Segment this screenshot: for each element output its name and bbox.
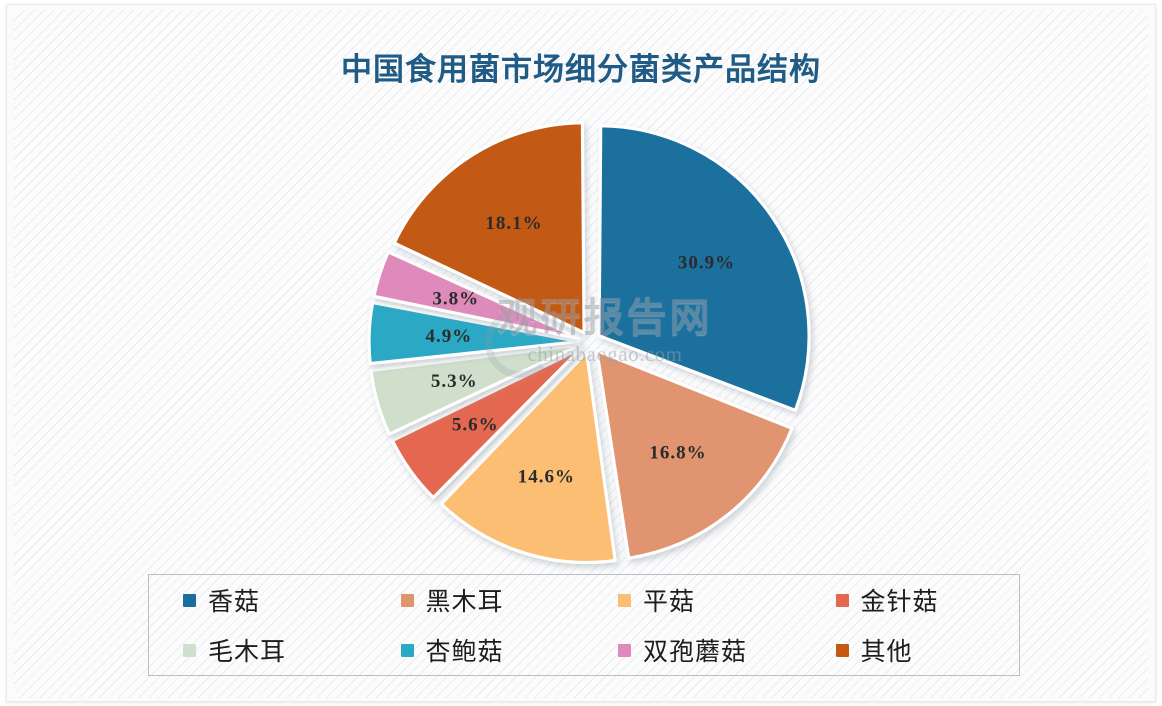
legend-swatch-icon bbox=[401, 594, 414, 607]
legend-item[interactable]: 双孢蘑菇 bbox=[584, 632, 802, 668]
legend-item-label: 金针菇 bbox=[861, 582, 939, 618]
legend-swatch-icon bbox=[183, 644, 196, 657]
pie-slice-label: 14.6% bbox=[518, 466, 575, 487]
legend-item[interactable]: 香菇 bbox=[149, 582, 367, 618]
pie-slice-label: 5.6% bbox=[452, 414, 499, 435]
legend-swatch-icon bbox=[836, 594, 849, 607]
pie-slice-label: 5.3% bbox=[431, 371, 478, 392]
chart-title: 中国食用菌市场细分菌类产品结构 bbox=[0, 44, 1162, 89]
legend-item[interactable]: 黑木耳 bbox=[367, 582, 585, 618]
pie-chart: 30.9%16.8%14.6%5.6%5.3%4.9%3.8%18.1% bbox=[340, 104, 840, 574]
legend-item-label: 香菇 bbox=[208, 582, 260, 618]
pie-slice-label: 16.8% bbox=[649, 442, 706, 463]
legend-row: 香菇黑木耳平菇金针菇 bbox=[149, 575, 1019, 625]
pie-slice-label: 3.8% bbox=[432, 288, 479, 309]
legend-item-label: 毛木耳 bbox=[208, 632, 286, 668]
legend-item-label: 其他 bbox=[861, 632, 913, 668]
legend-item[interactable]: 平菇 bbox=[584, 582, 802, 618]
legend-swatch-icon bbox=[183, 594, 196, 607]
legend-row: 毛木耳杏鲍菇双孢蘑菇其他 bbox=[149, 625, 1019, 675]
legend-swatch-icon bbox=[618, 594, 631, 607]
legend-item-label: 黑木耳 bbox=[426, 582, 504, 618]
legend-item[interactable]: 杏鲍菇 bbox=[367, 632, 585, 668]
legend-item-label: 杏鲍菇 bbox=[426, 632, 504, 668]
pie-slice-label: 18.1% bbox=[485, 213, 542, 234]
legend-swatch-icon bbox=[618, 644, 631, 657]
legend-item[interactable]: 其他 bbox=[802, 632, 1020, 668]
chart-canvas: 中国食用菌市场细分菌类产品结构 30.9%16.8%14.6%5.6%5.3%4… bbox=[0, 0, 1162, 706]
legend-swatch-icon bbox=[401, 644, 414, 657]
legend-item[interactable]: 毛木耳 bbox=[149, 632, 367, 668]
legend-swatch-icon bbox=[836, 644, 849, 657]
chart-legend: 香菇黑木耳平菇金针菇 毛木耳杏鲍菇双孢蘑菇其他 bbox=[148, 574, 1020, 676]
pie-slice-label: 4.9% bbox=[426, 326, 473, 347]
legend-item-label: 双孢蘑菇 bbox=[643, 632, 747, 668]
pie-slice-label: 30.9% bbox=[678, 252, 735, 273]
pie-chart-svg: 30.9%16.8%14.6%5.6%5.3%4.9%3.8%18.1% bbox=[340, 104, 840, 574]
legend-item[interactable]: 金针菇 bbox=[802, 582, 1020, 618]
legend-item-label: 平菇 bbox=[643, 582, 695, 618]
